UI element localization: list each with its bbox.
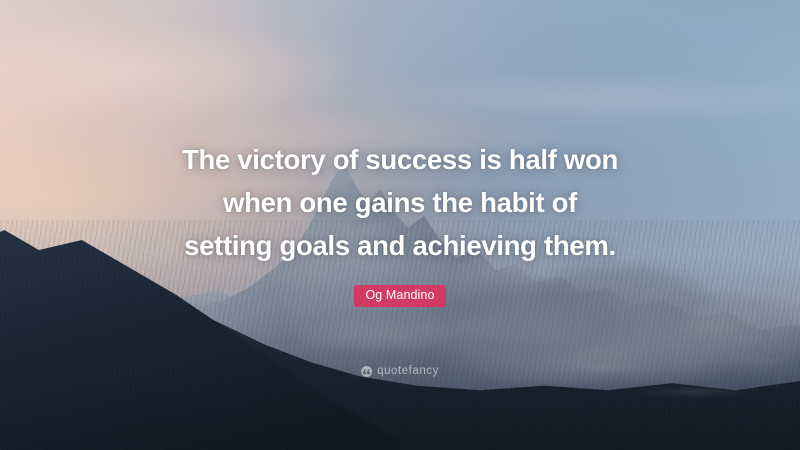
quote-block: The victory of success is half won when … [120,138,680,307]
quote-line-2: when one gains the habit of [120,181,680,224]
quote-mark-circle-icon [361,366,372,377]
quote-line-1: The victory of success is half won [120,138,680,181]
author-badge[interactable]: Og Mandino [354,285,445,307]
quote-wallpaper: The victory of success is half won when … [0,0,800,450]
quote-line-3: setting goals and achieving them. [120,224,680,267]
watermark-label: quotefancy [377,366,439,378]
content-overlay: The victory of success is half won when … [0,0,800,450]
watermark[interactable]: quotefancy [361,366,439,378]
